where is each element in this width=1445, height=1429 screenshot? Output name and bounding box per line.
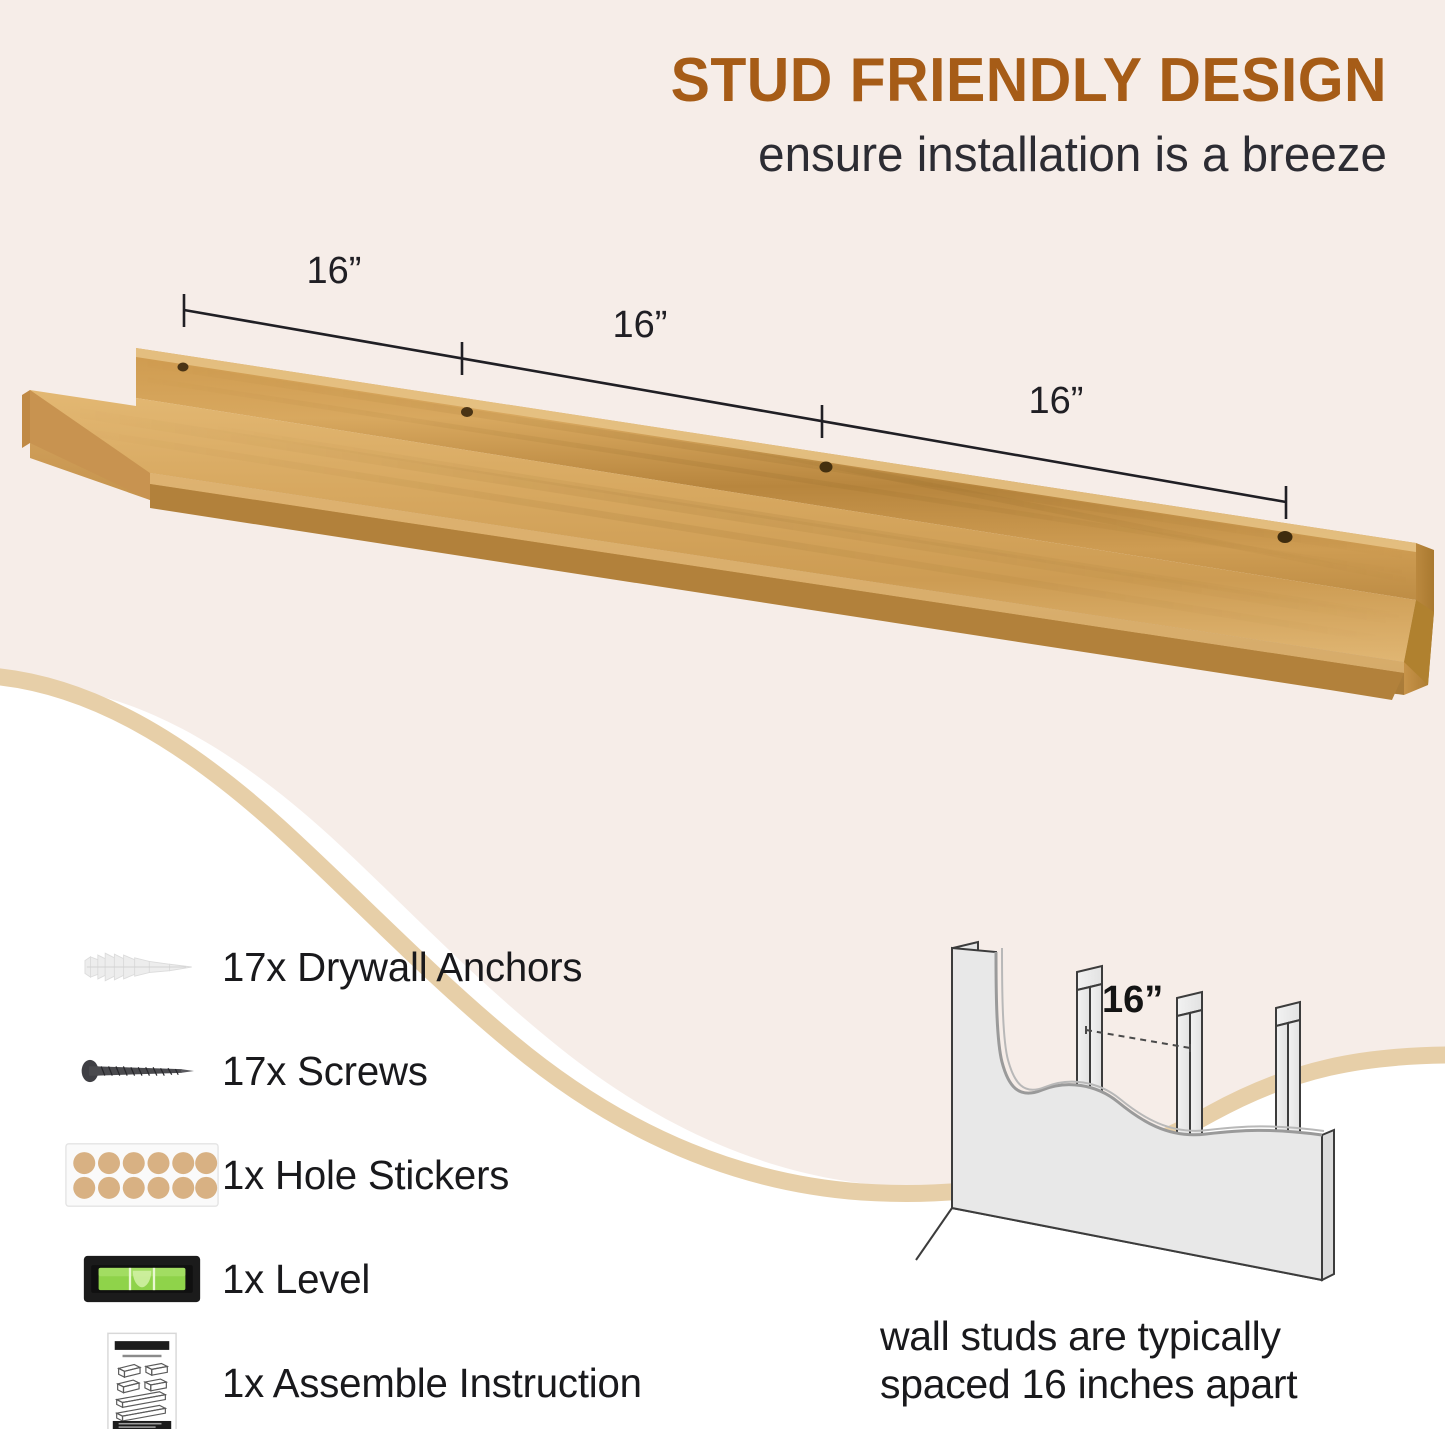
dimension-label-1: 16” bbox=[307, 250, 362, 292]
drywall-anchor-icon bbox=[62, 944, 222, 990]
level-icon bbox=[62, 1252, 222, 1306]
page-title: STUD FRIENDLY DESIGN bbox=[532, 48, 1387, 113]
part-label: 1x Assemble Instruction bbox=[222, 1360, 642, 1407]
floor-line bbox=[916, 1208, 952, 1260]
stud-4 bbox=[1276, 1002, 1300, 1140]
wall-stud-diagram: 16” bbox=[890, 930, 1350, 1305]
list-item: 1x Hole Stickers bbox=[62, 1123, 822, 1227]
header: STUD FRIENDLY DESIGN ensure installation… bbox=[487, 48, 1387, 183]
instruction-manual-icon bbox=[62, 1331, 222, 1429]
shelf-left-end-cap bbox=[22, 390, 30, 448]
dimension-label-2: 16” bbox=[613, 304, 668, 346]
shelf-illustration: 16” 16” 16” bbox=[0, 230, 1445, 710]
part-label: 17x Drywall Anchors bbox=[222, 944, 582, 991]
list-item: 1x Assemble Instruction bbox=[62, 1331, 822, 1429]
parts-list: 17x Drywall Anchors bbox=[62, 915, 822, 1429]
part-label: 17x Screws bbox=[222, 1048, 428, 1095]
list-item: 1x Level bbox=[62, 1227, 822, 1331]
stud-dimension-label: 16” bbox=[1102, 979, 1163, 1021]
list-item: 17x Drywall Anchors bbox=[62, 915, 822, 1019]
infographic-page: STUD FRIENDLY DESIGN ensure installation… bbox=[0, 0, 1445, 1429]
dimension-label-3: 16” bbox=[1029, 380, 1084, 422]
hole-stickers-icon bbox=[62, 1142, 222, 1208]
part-label: 1x Level bbox=[222, 1256, 370, 1303]
stud-diagram-caption: wall studs are typically spaced 16 inche… bbox=[880, 1312, 1400, 1409]
screw-icon bbox=[62, 1052, 222, 1090]
caption-line-1: wall studs are typically bbox=[880, 1312, 1400, 1360]
stud-3 bbox=[1177, 992, 1202, 1146]
caption-line-2: spaced 16 inches apart bbox=[880, 1360, 1400, 1408]
part-label: 1x Hole Stickers bbox=[222, 1152, 509, 1199]
page-subtitle: ensure installation is a breeze bbox=[514, 129, 1387, 183]
list-item: 17x Screws bbox=[62, 1019, 822, 1123]
